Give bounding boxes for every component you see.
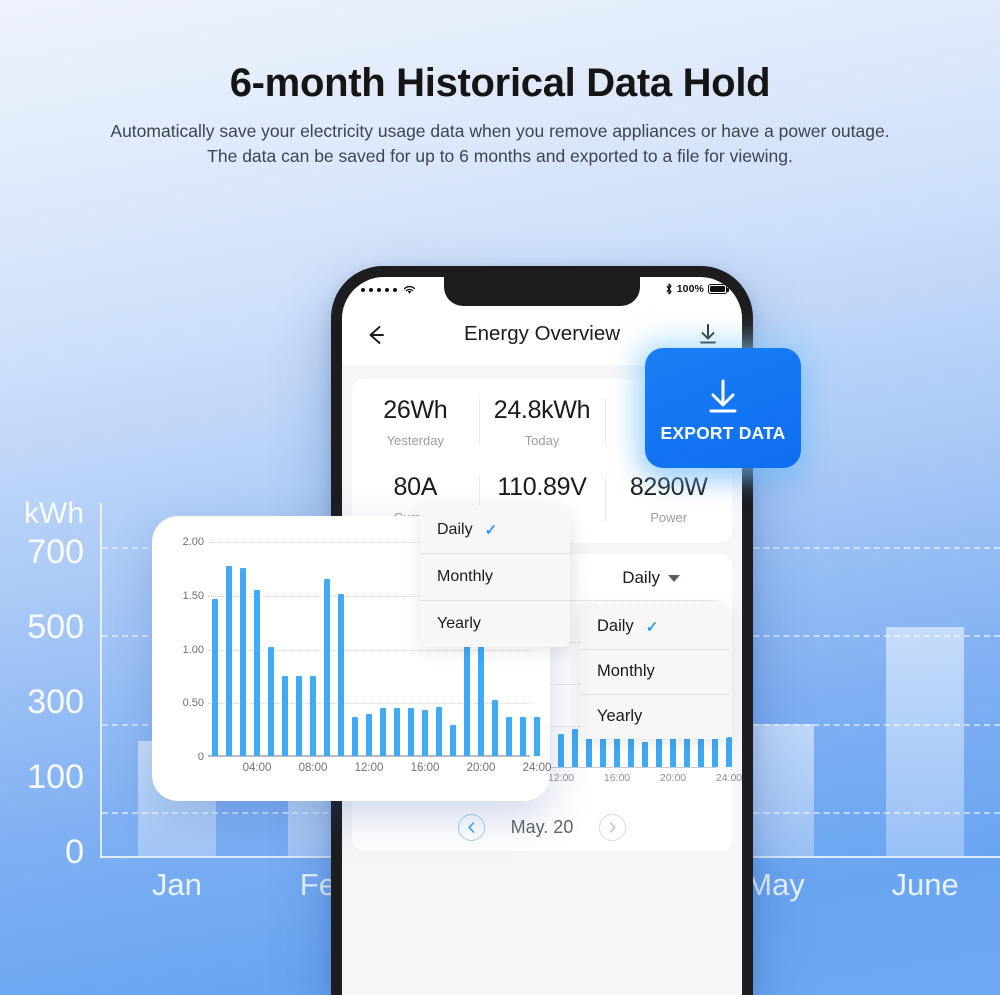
- chart-bar: [310, 676, 316, 756]
- chart-bar: [324, 579, 330, 756]
- page-title: 6-month Historical Data Hold: [0, 62, 1000, 104]
- chart-bar: [558, 734, 564, 766]
- x-axis-tick-label: 20:00: [660, 772, 686, 784]
- chart-bar: [520, 717, 526, 755]
- background-chart-x-label: June: [850, 867, 1000, 903]
- download-button[interactable]: [696, 322, 720, 348]
- chart-bar: [436, 707, 442, 756]
- signal-dots-icon: [385, 288, 389, 292]
- chevron-right-icon: [607, 821, 618, 834]
- chart-bar: [478, 640, 484, 755]
- stat-value: 80A: [352, 473, 479, 502]
- stat-value: 24.8kWh: [479, 396, 606, 425]
- chart-bar: [450, 725, 456, 756]
- daily-chart-popup-y-axis: 00.501.001.502.00: [162, 542, 204, 757]
- x-axis-tick-label: 04:00: [243, 762, 272, 774]
- hero-section: 6-month Historical Data Hold Automatical…: [0, 0, 1000, 168]
- stat-value: 110.89V: [479, 473, 606, 502]
- stat-label: Today: [479, 433, 606, 448]
- period-selector[interactable]: Daily: [622, 568, 716, 588]
- stat-label: Yesterday: [352, 433, 479, 448]
- chart-bar: [572, 729, 578, 766]
- daily-chart-popup-x-axis: 04:0008:0012:0016:0020:0024:00: [208, 762, 530, 780]
- y-axis-tick-label: 1.00: [183, 644, 204, 656]
- status-bar-left: [361, 285, 416, 295]
- x-axis-tick-label: 08:00: [299, 762, 328, 774]
- x-axis-tick-label: 24:00: [523, 762, 552, 774]
- background-chart-bar: [886, 627, 964, 856]
- chart-bar: [212, 599, 218, 756]
- download-tray-icon: [700, 373, 746, 419]
- bg-ytick-700: 700: [27, 533, 84, 572]
- chart-bar: [268, 647, 274, 756]
- phone-notch: [444, 277, 640, 306]
- bg-ytick-500: 500: [27, 608, 84, 647]
- chart-bar: [240, 568, 246, 755]
- next-date-button[interactable]: [599, 814, 626, 841]
- download-icon: [696, 322, 720, 348]
- daily-chart-popup-card: 00.501.001.502.00 04:0008:0012:0016:0020…: [152, 516, 550, 801]
- chart-bar: [534, 717, 540, 755]
- status-bar-right: 100%: [665, 283, 727, 295]
- dropdown-item-daily[interactable]: Daily✓: [580, 604, 730, 649]
- x-axis-tick-label: 24:00: [716, 772, 742, 784]
- stat-value: 8290W: [605, 473, 732, 502]
- hero-subtitle-line-1: Automatically save your electricity usag…: [0, 120, 1000, 143]
- dropdown-item-label: Yearly: [437, 615, 481, 633]
- stat-value: 26Wh: [352, 396, 479, 425]
- x-axis-tick-label: 20:00: [467, 762, 496, 774]
- x-axis-tick-label: 12:00: [355, 762, 384, 774]
- export-data-button[interactable]: EXPORT DATA: [645, 348, 801, 468]
- chart-bar: [422, 710, 428, 756]
- chart-bar: [712, 737, 718, 767]
- battery-icon: [708, 284, 727, 294]
- dropdown-item-label: Monthly: [437, 568, 493, 586]
- chart-bar: [394, 708, 400, 756]
- check-icon: ✓: [646, 618, 659, 636]
- dropdown-item-yearly[interactable]: Yearly: [420, 600, 570, 647]
- hero-subtitle-line-2: The data can be saved for up to 6 months…: [0, 145, 1000, 168]
- stat-today: 24.8kWh Today: [479, 383, 606, 460]
- x-axis-tick-label: 16:00: [604, 772, 630, 784]
- period-dropdown-phone[interactable]: Daily✓MonthlyYearly: [580, 604, 728, 739]
- chart-bar: [338, 594, 344, 756]
- background-chart-unit-label: kWh: [24, 497, 84, 531]
- chart-bar: [296, 676, 302, 756]
- period-selected-label: Daily: [622, 568, 660, 588]
- dropdown-item-monthly[interactable]: Monthly: [420, 553, 570, 600]
- stat-power: 8290W Power: [605, 460, 732, 537]
- stat-label: Power: [605, 510, 732, 525]
- current-date-label: May. 20: [511, 817, 574, 838]
- chart-bar: [226, 566, 232, 756]
- chart-bar: [492, 700, 498, 755]
- chart-bar: [380, 708, 386, 756]
- bluetooth-icon: [665, 283, 673, 295]
- signal-dots-icon: [369, 288, 373, 292]
- signal-dots-icon: [377, 288, 381, 292]
- y-axis-tick-label: 1.50: [183, 590, 204, 602]
- bg-ytick-300: 300: [27, 683, 84, 722]
- chart-bar: [726, 737, 732, 767]
- chart-bar: [254, 590, 260, 755]
- y-axis-tick-label: 0: [198, 751, 204, 763]
- signal-dots-icon: [393, 288, 397, 292]
- export-data-label: EXPORT DATA: [660, 423, 785, 444]
- signal-dots-icon: [361, 288, 365, 292]
- dropdown-item-daily[interactable]: Daily✓: [420, 506, 570, 553]
- chart-bar: [408, 708, 414, 756]
- chart-bar: [366, 714, 372, 756]
- dropdown-item-yearly[interactable]: Yearly: [580, 694, 730, 739]
- dropdown-item-monthly[interactable]: Monthly: [580, 649, 730, 694]
- prev-date-button[interactable]: [458, 814, 485, 841]
- dropdown-item-label: Monthly: [597, 662, 655, 681]
- dropdown-item-label: Daily: [437, 521, 473, 539]
- chart-bar: [698, 737, 704, 767]
- chevron-down-icon: [668, 575, 680, 582]
- chart-bar: [464, 640, 470, 755]
- page-title-navbar: Energy Overview: [342, 322, 742, 346]
- check-icon: ✓: [485, 521, 498, 539]
- dropdown-item-label: Yearly: [597, 707, 642, 726]
- bg-ytick-0: 0: [65, 833, 84, 872]
- date-navigation: May. 20: [362, 814, 722, 841]
- x-axis-tick-label: 12:00: [548, 772, 574, 784]
- y-axis-tick-label: 0.50: [183, 697, 204, 709]
- background-chart-x-label: Jan: [102, 867, 252, 903]
- period-dropdown-popup[interactable]: Daily✓MonthlyYearly: [420, 506, 542, 647]
- dropdown-item-label: Daily: [597, 617, 634, 636]
- chart-bar: [352, 717, 358, 755]
- chart-bar: [282, 676, 288, 756]
- chevron-left-icon: [466, 821, 477, 834]
- y-axis-tick-label: 2.00: [183, 536, 204, 548]
- stat-yesterday: 26Wh Yesterday: [352, 383, 479, 460]
- chart-bar: [506, 717, 512, 755]
- chart-bar: [642, 742, 648, 766]
- bg-ytick-100: 100: [27, 758, 84, 797]
- x-axis-tick-label: 16:00: [411, 762, 440, 774]
- battery-percent-label: 100%: [677, 283, 704, 295]
- wifi-icon: [403, 285, 416, 295]
